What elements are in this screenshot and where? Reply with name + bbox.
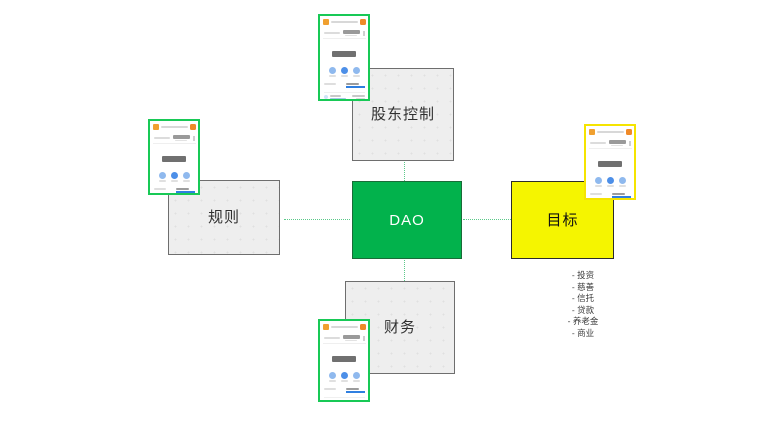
tab-activity-underline [346,86,365,88]
swap-action-label [353,75,360,77]
tab-activity-label [176,188,189,190]
tab-activity-underline [176,191,195,193]
transaction-subtitle [330,98,346,100]
swap-action-label [353,380,360,382]
send-action[interactable] [595,177,602,187]
transaction-title [330,400,341,402]
receive-action-icon [607,177,614,184]
more-options-icon[interactable] [363,31,365,36]
connector-dao-to-finance [404,260,405,281]
total-amount-value [332,51,356,57]
tab-assets[interactable] [324,388,343,393]
receive-action[interactable] [341,67,348,77]
phone-screen [320,16,368,101]
balance-label [324,32,340,34]
phone-screen [150,121,198,195]
quick-actions [323,65,366,79]
quick-actions [153,170,196,184]
swap-action[interactable] [619,177,626,187]
transaction-row[interactable] [324,397,365,402]
phone-header-title [161,126,188,129]
tab-assets-underline [324,391,343,393]
phone-mockup-phone-top [318,14,370,101]
receive-action-icon [341,67,348,74]
tab-assets-label [324,388,337,390]
node-label-goal: 目标 [546,213,578,228]
balance-value [343,30,360,36]
transaction-icon [324,95,328,99]
tab-activity[interactable] [176,188,195,193]
tab-assets[interactable] [154,188,173,193]
send-action[interactable] [159,172,166,182]
transaction-amount-primary [352,400,365,402]
swap-action-icon [619,177,626,184]
avatar[interactable] [360,324,366,330]
app-logo-icon [323,19,329,25]
transaction-amount-secondary [356,98,365,100]
app-logo-icon [153,124,159,130]
node-label-rules: 规则 [208,210,240,225]
phone-screen [586,126,634,200]
transaction-icon [324,400,328,402]
diagram-canvas: 股东控制规则DAO目标财务 - 投资- 慈善- 信托- 贷款- 养老金- 商业 [0,0,780,434]
app-logo-icon [323,324,329,330]
send-action-label [329,380,336,382]
balance-label [154,137,170,139]
tab-activity[interactable] [346,83,365,88]
quick-actions [589,175,632,189]
tab-activity-underline [346,391,365,393]
tab-assets-label [154,188,167,190]
transaction-title [330,95,341,97]
phone-screen [320,321,368,402]
goal-bullet-list: - 投资- 慈善- 信托- 贷款- 养老金- 商业 [528,270,638,339]
more-options-icon[interactable] [629,141,631,146]
phone-header-title [597,131,624,134]
balance-label-line [590,142,606,144]
balance-label-line [324,337,340,339]
total-amount [323,41,366,63]
send-action-icon [329,67,336,74]
more-options-icon[interactable] [193,136,195,141]
send-action[interactable] [329,67,336,77]
transaction-row[interactable] [324,92,365,100]
node-label-shareholder-control: 股东控制 [371,107,435,122]
balance-value-primary [343,30,360,34]
tab-activity[interactable] [612,193,631,198]
swap-action-icon [353,372,360,379]
tab-activity-label [346,388,359,390]
receive-action[interactable] [607,177,614,187]
receive-action-label [607,185,614,187]
node-label-dao: DAO [389,213,425,228]
phone-mockup-phone-left [148,119,200,195]
tab-activity-underline [612,196,631,198]
goal-bullet-item: - 信托 [528,293,638,305]
balance-value-primary [173,135,190,139]
transaction-amount [352,400,365,402]
goal-bullet-item: - 养老金 [528,316,638,328]
swap-action-icon [353,67,360,74]
send-action-icon [159,172,166,179]
balance-value [609,140,626,146]
balance-value-secondary [611,145,623,147]
phone-header [589,128,632,137]
connector-dao-to-goal [463,219,511,220]
tab-assets-label [324,83,337,85]
transaction-list [323,90,366,101]
tab-activity-label [612,193,625,195]
receive-action[interactable] [171,172,178,182]
phone-header [323,18,366,27]
phone-tabs [323,81,366,88]
quick-actions [323,370,366,384]
connector-dao-to-shareholder-control [404,162,405,181]
tab-assets-label [590,193,603,195]
tab-assets-underline [154,191,173,193]
balance-label [324,337,340,339]
balance-value-secondary [345,340,357,342]
transaction-text [330,400,350,402]
app-logo-icon [589,129,595,135]
tab-assets[interactable] [590,193,609,198]
receive-action-label [171,180,178,182]
balance-label [590,142,606,144]
balance-strip [589,139,632,149]
transaction-text [330,95,350,99]
phone-header [323,323,366,332]
connector-dao-to-rules [284,219,350,220]
send-action-icon [329,372,336,379]
send-action[interactable] [329,372,336,382]
balance-value [173,135,190,141]
send-action-label [329,75,336,77]
total-amount-value [332,356,356,362]
phone-mockup-phone-right [584,124,636,200]
transaction-amount-primary [352,95,365,97]
goal-bullet-item: - 贷款 [528,305,638,317]
receive-action-label [341,380,348,382]
send-action-icon [595,177,602,184]
total-amount [589,151,632,173]
node-label-finance: 财务 [384,320,416,335]
phone-mockup-phone-bottom [318,319,370,402]
tab-activity-label [346,83,359,85]
tab-assets[interactable] [324,83,343,88]
swap-action-icon [183,172,190,179]
total-amount [153,146,196,168]
balance-value-secondary [175,140,187,142]
balance-value-primary [609,140,626,144]
balance-label-line [154,137,170,139]
avatar[interactable] [626,129,632,135]
phone-header-title [331,21,358,24]
goal-bullet-item: - 慈善 [528,282,638,294]
phone-tabs [589,191,632,198]
receive-action-label [341,75,348,77]
send-action-label [595,185,602,187]
swap-action[interactable] [353,67,360,77]
swap-action[interactable] [353,372,360,382]
balance-strip [323,334,366,344]
total-amount-value [598,161,622,167]
balance-strip [323,29,366,39]
phone-header [153,123,196,132]
phone-tabs [153,186,196,193]
total-amount-value [162,156,186,162]
balance-strip [153,134,196,144]
receive-action[interactable] [341,372,348,382]
avatar[interactable] [360,19,366,25]
goal-bullet-item: - 商业 [528,328,638,340]
send-action-label [159,180,166,182]
balance-value-secondary [345,35,357,37]
avatar[interactable] [190,124,196,130]
node-dao[interactable]: DAO [352,181,462,259]
tab-assets-underline [590,196,609,198]
swap-action-label [619,185,626,187]
total-amount [323,346,366,368]
balance-value-primary [343,335,360,339]
swap-action[interactable] [183,172,190,182]
transaction-list [323,395,366,402]
balance-label-line [324,32,340,34]
goal-bullet-item: - 投资 [528,270,638,282]
receive-action-icon [341,372,348,379]
balance-value [343,335,360,341]
receive-action-icon [171,172,178,179]
transaction-amount [352,95,365,99]
phone-header-title [331,326,358,329]
swap-action-label [183,180,190,182]
tab-assets-underline [324,86,343,88]
phone-tabs [323,386,366,393]
tab-activity[interactable] [346,388,365,393]
more-options-icon[interactable] [363,336,365,341]
